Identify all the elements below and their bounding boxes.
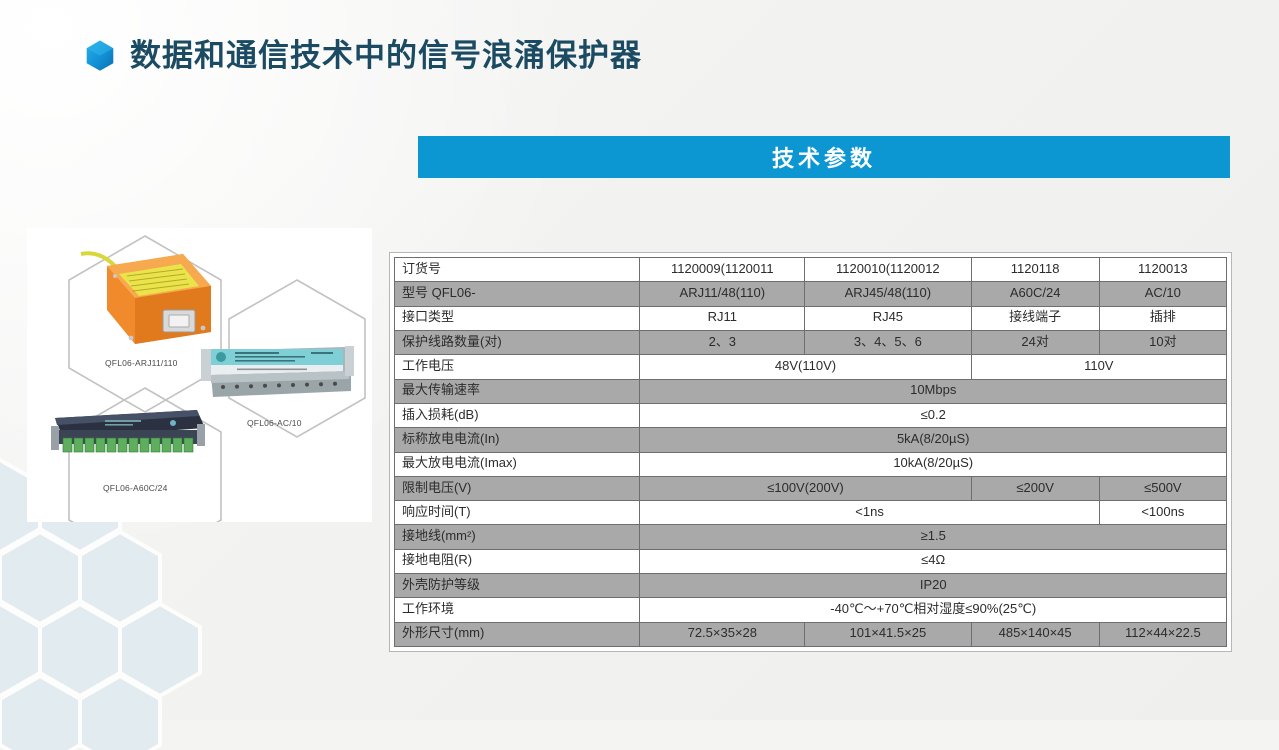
table-row: 最大放电电流(Imax)10kA(8/20µS): [395, 452, 1227, 476]
table-cell: 112×44×22.5: [1099, 622, 1226, 646]
table-cell: AC/10: [1099, 282, 1226, 306]
spec-table-body: 订货号1120009(11200111120010(11200121120118…: [395, 258, 1227, 647]
table-row: 型号 QFL06-ARJ11/48(110)ARJ45/48(110)A60C/…: [395, 282, 1227, 306]
table-cell: 485×140×45: [971, 622, 1099, 646]
section-banner-label: 技术参数: [772, 141, 876, 173]
table-cell: 10Mbps: [640, 379, 1227, 403]
row-label: 工作电压: [395, 355, 640, 379]
table-cell: ≤500V: [1099, 476, 1226, 500]
row-label: 插入损耗(dB): [395, 403, 640, 427]
table-cell: 1120009(1120011: [640, 258, 805, 282]
table-cell: 接线端子: [971, 306, 1099, 330]
table-cell: ARJ11/48(110): [640, 282, 805, 306]
row-label: 标称放电电流(In): [395, 428, 640, 452]
table-cell: RJ11: [640, 306, 805, 330]
table-cell: 1120013: [1099, 258, 1226, 282]
table-cell: 101×41.5×25: [805, 622, 971, 646]
table-cell: ≤200V: [971, 476, 1099, 500]
table-row: 外壳防护等级IP20: [395, 574, 1227, 598]
table-cell: A60C/24: [971, 282, 1099, 306]
product-photo-arj11: [71, 248, 221, 358]
table-cell: ≤4Ω: [640, 549, 1227, 573]
table-cell: 1120010(1120012: [805, 258, 971, 282]
table-row: 标称放电电流(In)5kA(8/20µS): [395, 428, 1227, 452]
table-row: 接地电阻(R)≤4Ω: [395, 549, 1227, 573]
table-row: 接地线(mm²)≥1.5: [395, 525, 1227, 549]
row-label: 接地电阻(R): [395, 549, 640, 573]
table-row: 保护线路数量(对)2、33、4、5、624对10对: [395, 330, 1227, 354]
table-row: 工作电压48V(110V)110V: [395, 355, 1227, 379]
page-header: 数据和通信技术中的信号浪涌保护器: [86, 32, 642, 78]
table-cell: ≤0.2: [640, 403, 1227, 427]
page-title: 数据和通信技术中的信号浪涌保护器: [130, 40, 642, 71]
hexagon-bullet-icon: [86, 40, 114, 71]
table-row: 插入损耗(dB)≤0.2: [395, 403, 1227, 427]
table-cell: 48V(110V): [640, 355, 971, 379]
row-label: 接口类型: [395, 306, 640, 330]
table-cell: <100ns: [1099, 501, 1226, 525]
row-label: 限制电压(V): [395, 476, 640, 500]
table-cell: 1120118: [971, 258, 1099, 282]
table-cell: 72.5×35×28: [640, 622, 805, 646]
product-label-arj11: QFL06-ARJ11/110: [105, 358, 178, 368]
section-banner: 技术参数: [418, 136, 1230, 178]
hexagon-product-frames: QFL06-ARJ11/110 QFL06-AC/10 QFL06-A60C/2…: [27, 228, 372, 522]
row-label: 响应时间(T): [395, 501, 640, 525]
table-cell: 3、4、5、6: [805, 330, 971, 354]
spec-table: 订货号1120009(11200111120010(11200121120118…: [394, 257, 1227, 647]
row-label: 外形尺寸(mm): [395, 622, 640, 646]
table-cell: ≥1.5: [640, 525, 1227, 549]
row-label: 接地线(mm²): [395, 525, 640, 549]
table-row: 限制电压(V)≤100V(200V)≤200V≤500V: [395, 476, 1227, 500]
row-label: 外壳防护等级: [395, 574, 640, 598]
row-label: 最大放电电流(Imax): [395, 452, 640, 476]
table-cell: 插排: [1099, 306, 1226, 330]
table-cell: <1ns: [640, 501, 1099, 525]
table-row: 最大传输速率10Mbps: [395, 379, 1227, 403]
table-cell: RJ45: [805, 306, 971, 330]
row-label: 订货号: [395, 258, 640, 282]
table-row: 响应时间(T)<1ns<100ns: [395, 501, 1227, 525]
row-label: 工作环境: [395, 598, 640, 622]
table-row: 工作环境-40℃～+70℃相对湿度≤90%(25℃): [395, 598, 1227, 622]
table-row: 接口类型RJ11RJ45接线端子插排: [395, 306, 1227, 330]
table-cell: 24对: [971, 330, 1099, 354]
row-label: 保护线路数量(对): [395, 330, 640, 354]
table-cell: 10kA(8/20µS): [640, 452, 1227, 476]
row-label: 型号 QFL06-: [395, 282, 640, 306]
product-image-panel: QFL06-ARJ11/110 QFL06-AC/10 QFL06-A60C/2…: [27, 228, 372, 522]
table-cell: -40℃～+70℃相对湿度≤90%(25℃): [640, 598, 1227, 622]
table-cell: 5kA(8/20µS): [640, 428, 1227, 452]
table-cell: IP20: [640, 574, 1227, 598]
product-photo-a60c24: [47, 406, 209, 458]
table-row: 外形尺寸(mm)72.5×35×28101×41.5×25485×140×451…: [395, 622, 1227, 646]
table-cell: 2、3: [640, 330, 805, 354]
table-cell: 110V: [971, 355, 1226, 379]
product-label-a60c24: QFL06-A60C/24: [103, 483, 168, 493]
product-label-ac10: QFL06-AC/10: [247, 418, 302, 428]
table-cell: ≤100V(200V): [640, 476, 971, 500]
row-label: 最大传输速率: [395, 379, 640, 403]
table-row: 订货号1120009(11200111120010(11200121120118…: [395, 258, 1227, 282]
table-cell: ARJ45/48(110): [805, 282, 971, 306]
spec-table-frame: 订货号1120009(11200111120010(11200121120118…: [389, 252, 1232, 652]
table-cell: 10对: [1099, 330, 1226, 354]
product-photo-ac10: [199, 343, 355, 403]
